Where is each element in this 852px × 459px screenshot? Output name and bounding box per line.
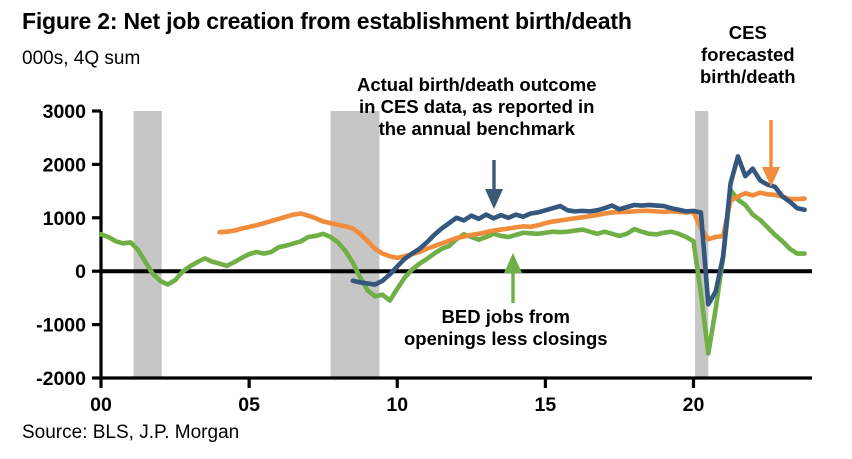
- annotation-ces-forecast-line2: forecasted: [700, 44, 796, 66]
- annotation-ces-forecast-line3: birth/death: [700, 66, 796, 88]
- annotation-ces-actual-line3: the annual benchmark: [357, 118, 597, 140]
- x-axis-tick-label: 05: [238, 394, 260, 416]
- x-axis-tick-label: 15: [535, 394, 557, 416]
- annotation-ces-actual: Actual birth/death outcome in CES data, …: [357, 74, 597, 139]
- annotation-arrow-ces-actual-head: [485, 189, 503, 209]
- y-axis-tick-label: 1000: [43, 208, 87, 230]
- figure-container: Figure 2: Net job creation from establis…: [0, 0, 852, 459]
- y-axis-tick-label: 2000: [43, 154, 87, 176]
- annotation-ces-actual-line1: Actual birth/death outcome: [357, 74, 597, 96]
- x-axis-tick-label: 10: [386, 394, 408, 416]
- y-axis-tick-label: 0: [75, 261, 86, 283]
- annotation-ces-actual-line2: in CES data, as reported in: [357, 96, 597, 118]
- x-axis-tick-label: 20: [683, 394, 705, 416]
- y-axis-tick-label: -2000: [36, 368, 86, 390]
- recession-band: [134, 111, 162, 378]
- annotation-bed: BED jobs from openings less closings: [404, 306, 608, 350]
- source-note: Source: BLS, J.P. Morgan: [22, 422, 239, 444]
- annotation-ces-forecast-line1: CES: [700, 22, 796, 44]
- y-axis-tick-label: 3000: [43, 101, 87, 123]
- annotation-bed-line2: openings less closings: [404, 328, 608, 350]
- x-axis-tick-label: 00: [90, 394, 112, 416]
- y-axis-tick-label: -1000: [36, 315, 86, 337]
- annotation-arrow-bed-head: [504, 253, 522, 273]
- chart-series-line: [220, 193, 805, 258]
- annotation-bed-line1: BED jobs from: [404, 306, 608, 328]
- annotation-ces-forecast: CES forecasted birth/death: [700, 22, 796, 87]
